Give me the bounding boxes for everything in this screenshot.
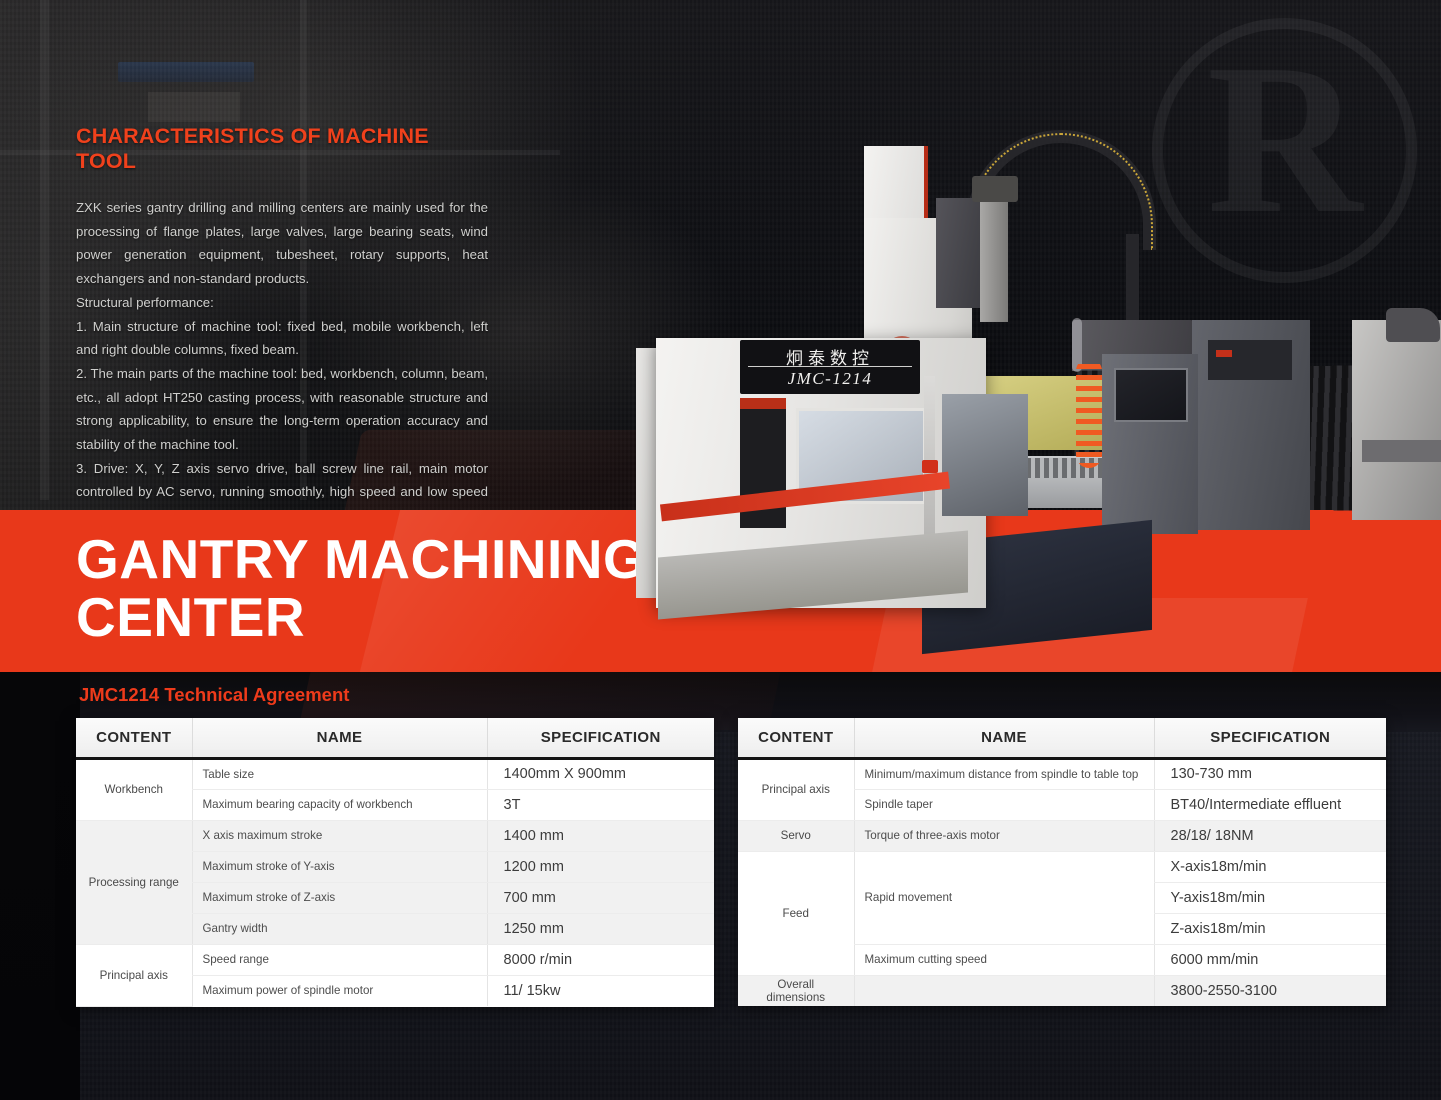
cell-name: Rapid movement: [854, 851, 1154, 944]
machine-beam-shelf: [1362, 440, 1441, 462]
intro-paragraph-3: 1. Main structure of machine tool: fixed…: [76, 315, 488, 362]
machine-beam-right: [1352, 320, 1441, 520]
cell-name: [854, 975, 1154, 1006]
machine-door-handle: [922, 460, 938, 473]
cell-specification: 130-730 mm: [1154, 758, 1386, 789]
cell-content-group: Principal axis: [76, 944, 192, 1006]
spec-table-right-body: Principal axisMinimum/maximum distance f…: [738, 758, 1386, 1006]
cell-name: Spindle taper: [854, 789, 1154, 820]
cell-specification: Z-axis18m/min: [1154, 913, 1386, 944]
cell-specification: Y-axis18m/min: [1154, 882, 1386, 913]
cell-specification: 8000 r/min: [487, 944, 714, 975]
cell-name: Minimum/maximum distance from spindle to…: [854, 758, 1154, 789]
column-header-name: NAME: [854, 718, 1154, 758]
cell-name: Maximum power of spindle motor: [192, 975, 487, 1006]
table-row: Principal axisMinimum/maximum distance f…: [738, 758, 1386, 789]
machine-window-side: [942, 394, 1028, 516]
column-header-specification: SPECIFICATION: [1154, 718, 1386, 758]
cell-name: Maximum cutting speed: [854, 944, 1154, 975]
column-header-content: CONTENT: [76, 718, 192, 758]
table-row: WorkbenchTable size1400mm X 900mm: [76, 758, 714, 789]
table-header-row: CONTENT NAME SPECIFICATION: [76, 718, 714, 758]
cell-specification: 28/18/ 18NM: [1154, 820, 1386, 851]
spec-table-left-body: WorkbenchTable size1400mm X 900mmMaximum…: [76, 758, 714, 1006]
cell-name: X axis maximum stroke: [192, 820, 487, 851]
cell-content-group: Processing range: [76, 820, 192, 944]
background-beam: [40, 0, 49, 500]
cell-content-group: Overall dimensions: [738, 975, 854, 1006]
cell-name: Maximum stroke of Z-axis: [192, 882, 487, 913]
cell-specification: 700 mm: [487, 882, 714, 913]
machine-cnc-control-panel: [1114, 368, 1188, 422]
cell-specification: 3T: [487, 789, 714, 820]
table-row: FeedRapid movementX-axis18m/min: [738, 851, 1386, 882]
column-header-specification: SPECIFICATION: [487, 718, 714, 758]
cell-name: Maximum stroke of Y-axis: [192, 851, 487, 882]
machine-ram-housing: [936, 198, 984, 308]
table-row: Processing rangeX axis maximum stroke140…: [76, 820, 714, 851]
intro-paragraph-2: Structural performance:: [76, 291, 488, 315]
cell-specification: 6000 mm/min: [1154, 944, 1386, 975]
machine-cabinet-panel: [1208, 340, 1292, 380]
intro-paragraph-1: ZXK series gantry drilling and milling c…: [76, 196, 488, 291]
spec-table-left: CONTENT NAME SPECIFICATION WorkbenchTabl…: [76, 718, 714, 1007]
machine-ram-head: [972, 176, 1018, 202]
machine-nameplate-model: JMC-1214: [748, 366, 912, 389]
page-title: CHARACTERISTICS OF MACHINE TOOL: [76, 124, 488, 174]
machine-column-top: [864, 146, 924, 222]
background-sign: [118, 62, 254, 82]
machine-product-photo: 炯泰数控 JMC-1214: [636, 58, 1256, 648]
background-sign: [148, 92, 240, 122]
table-row: Principal axisSpeed range8000 r/min: [76, 944, 714, 975]
machine-indicator-light-icon: [1216, 350, 1232, 357]
column-header-name: NAME: [192, 718, 487, 758]
banner-title: GANTRY MACHINING CENTER: [76, 530, 646, 646]
spec-table-right: CONTENT NAME SPECIFICATION Principal axi…: [738, 718, 1386, 1006]
cell-specification: 3800-2550-3100: [1154, 975, 1386, 1006]
intro-block: CHARACTERISTICS OF MACHINE TOOL ZXK seri…: [76, 124, 488, 552]
cell-specification: X-axis18m/min: [1154, 851, 1386, 882]
cell-content-group: Workbench: [76, 758, 192, 820]
cell-specification: 1200 mm: [487, 851, 714, 882]
machine-ram: [980, 184, 1008, 322]
cell-specification: 1400mm X 900mm: [487, 758, 714, 789]
machine-coiled-hose: [1076, 358, 1102, 468]
background-left-strip: [0, 672, 80, 1100]
cell-name: Gantry width: [192, 913, 487, 944]
table-row: ServoTorque of three-axis motor28/18/ 18…: [738, 820, 1386, 851]
brochure-page: R CHARACTERISTICS OF MACHINE TOOL ZXK se…: [0, 0, 1441, 1100]
cell-specification: 1400 mm: [487, 820, 714, 851]
cell-content-group: Feed: [738, 851, 854, 975]
cell-content-group: Principal axis: [738, 758, 854, 820]
table-header-row: CONTENT NAME SPECIFICATION: [738, 718, 1386, 758]
spec-section-title: JMC1214 Technical Agreement: [79, 684, 349, 706]
cell-name: Maximum bearing capacity of workbench: [192, 789, 487, 820]
machine-warning-label-icon: [740, 398, 786, 409]
cell-name: Table size: [192, 758, 487, 789]
table-row: Overall dimensions3800-2550-3100: [738, 975, 1386, 1006]
cell-specification: 11/ 15kw: [487, 975, 714, 1006]
cell-name: Speed range: [192, 944, 487, 975]
cell-specification: BT40/Intermediate effluent: [1154, 789, 1386, 820]
cell-name: Torque of three-axis motor: [854, 820, 1154, 851]
column-header-content: CONTENT: [738, 718, 854, 758]
cell-content-group: Servo: [738, 820, 854, 851]
cell-specification: 1250 mm: [487, 913, 714, 944]
intro-paragraph-4: 2. The main parts of the machine tool: b…: [76, 362, 488, 457]
machine-tool-gripper: [1386, 308, 1440, 342]
